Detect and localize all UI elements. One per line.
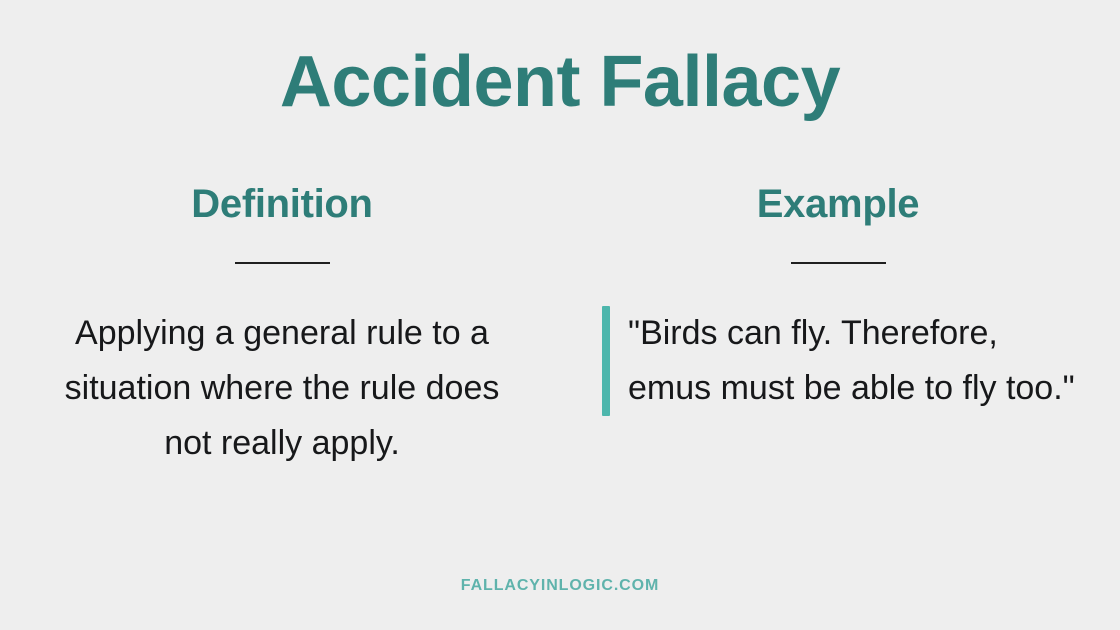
- definition-divider: [235, 262, 330, 264]
- definition-text: Applying a general rule to a situation w…: [40, 306, 524, 471]
- title-section: Accident Fallacy: [0, 46, 1120, 118]
- example-quote-block: "Birds can fly. Therefore, emus must be …: [596, 306, 1080, 416]
- example-divider: [791, 262, 886, 264]
- definition-heading: Definition: [40, 182, 524, 226]
- infographic-card: Accident Fallacy Definition Applying a g…: [0, 0, 1120, 630]
- footer-site-link[interactable]: FALLACYINLOGIC.COM: [461, 577, 659, 594]
- page-title: Accident Fallacy: [0, 46, 1120, 118]
- definition-column: Definition Applying a general rule to a …: [0, 182, 560, 505]
- content-columns: Definition Applying a general rule to a …: [0, 182, 1120, 505]
- example-text: "Birds can fly. Therefore, emus must be …: [610, 306, 1080, 416]
- example-column: Example "Birds can fly. Therefore, emus …: [560, 182, 1120, 416]
- example-header: Example: [596, 182, 1080, 264]
- quote-accent-bar: [602, 306, 610, 416]
- footer: FALLACYINLOGIC.COM: [0, 577, 1120, 595]
- definition-header: Definition: [40, 182, 524, 264]
- example-heading: Example: [596, 182, 1080, 226]
